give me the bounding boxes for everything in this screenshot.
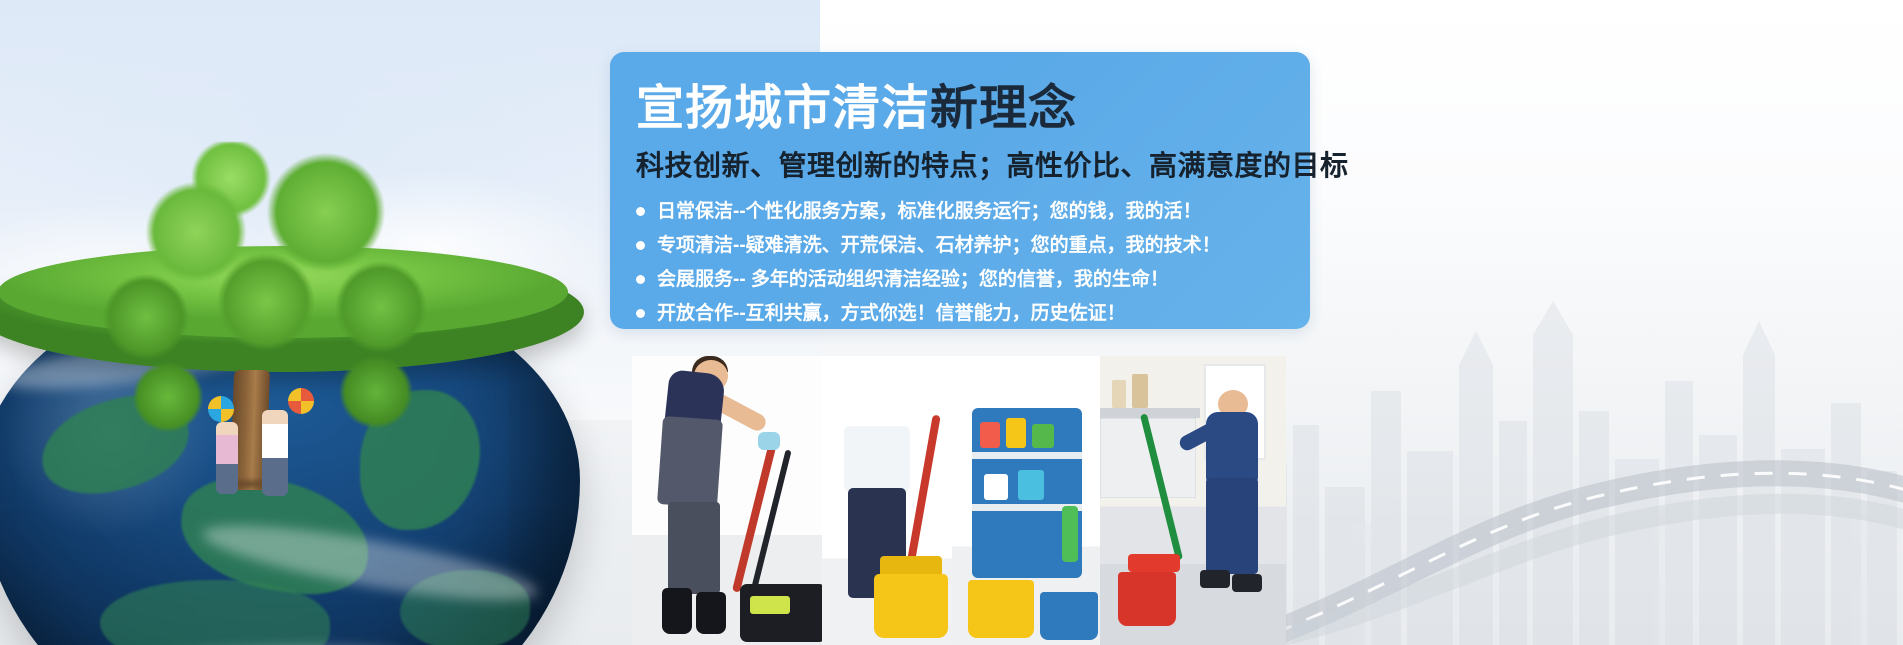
photo-mop-bucket bbox=[822, 356, 960, 645]
bullet-dot-icon bbox=[636, 309, 645, 318]
bullet-dot-icon bbox=[636, 275, 645, 284]
list-item-label: 日常保洁--个性化服务方案，标准化服务运行；您的钱，我的活！ bbox=[657, 202, 1202, 221]
list-item: 日常保洁--个性化服务方案，标准化服务运行；您的钱，我的活！ bbox=[636, 202, 1310, 221]
pinwheel-icon bbox=[288, 388, 314, 414]
bullet-dot-icon bbox=[636, 241, 645, 250]
panel-title-accent: 新理念 bbox=[930, 82, 1077, 135]
pinwheel-icon bbox=[208, 396, 234, 422]
child-figure bbox=[216, 422, 238, 494]
photo-strip bbox=[632, 356, 1292, 645]
photo-floor-machine-worker bbox=[632, 356, 832, 645]
bullet-dot-icon bbox=[636, 207, 645, 216]
panel-subtitle: 科技创新、管理创新的特点；高性价比、高满意度的目标 bbox=[636, 144, 1310, 184]
road-swoosh-icon bbox=[1263, 345, 1903, 645]
panel-title-highlight: 宣扬城市清洁 bbox=[636, 82, 930, 135]
message-panel: 宣扬城市清洁新理念 科技创新、管理创新的特点；高性价比、高满意度的目标 日常保洁… bbox=[610, 52, 1310, 329]
list-item-label: 专项清洁--疑难清洗、开荒保洁、石材养护；您的重点，我的技术！ bbox=[657, 236, 1221, 255]
photo-kitchen-mopping bbox=[1100, 356, 1286, 645]
earth-tree-illustration bbox=[0, 160, 600, 645]
list-item: 会展服务-- 多年的活动组织清洁经验；您的信誉，我的生命！ bbox=[636, 270, 1310, 289]
list-item-label: 会展服务-- 多年的活动组织清洁经验；您的信誉，我的生命！ bbox=[657, 270, 1169, 289]
panel-title: 宣扬城市清洁新理念 bbox=[636, 84, 1310, 134]
list-item-label: 开放合作--互利共赢，方式你选！信誉能力，历史佐证！ bbox=[657, 304, 1126, 323]
list-item: 开放合作--互利共赢，方式你选！信誉能力，历史佐证！ bbox=[636, 304, 1310, 323]
list-item: 专项清洁--疑难清洗、开荒保洁、石材养护；您的重点，我的技术！ bbox=[636, 236, 1310, 255]
photo-cleaning-cart bbox=[952, 356, 1104, 645]
child-figure bbox=[262, 410, 288, 496]
feature-list: 日常保洁--个性化服务方案，标准化服务运行；您的钱，我的活！ 专项清洁--疑难清… bbox=[636, 202, 1310, 323]
promotional-banner: 宣扬城市清洁新理念 科技创新、管理创新的特点；高性价比、高满意度的目标 日常保洁… bbox=[0, 0, 1903, 645]
